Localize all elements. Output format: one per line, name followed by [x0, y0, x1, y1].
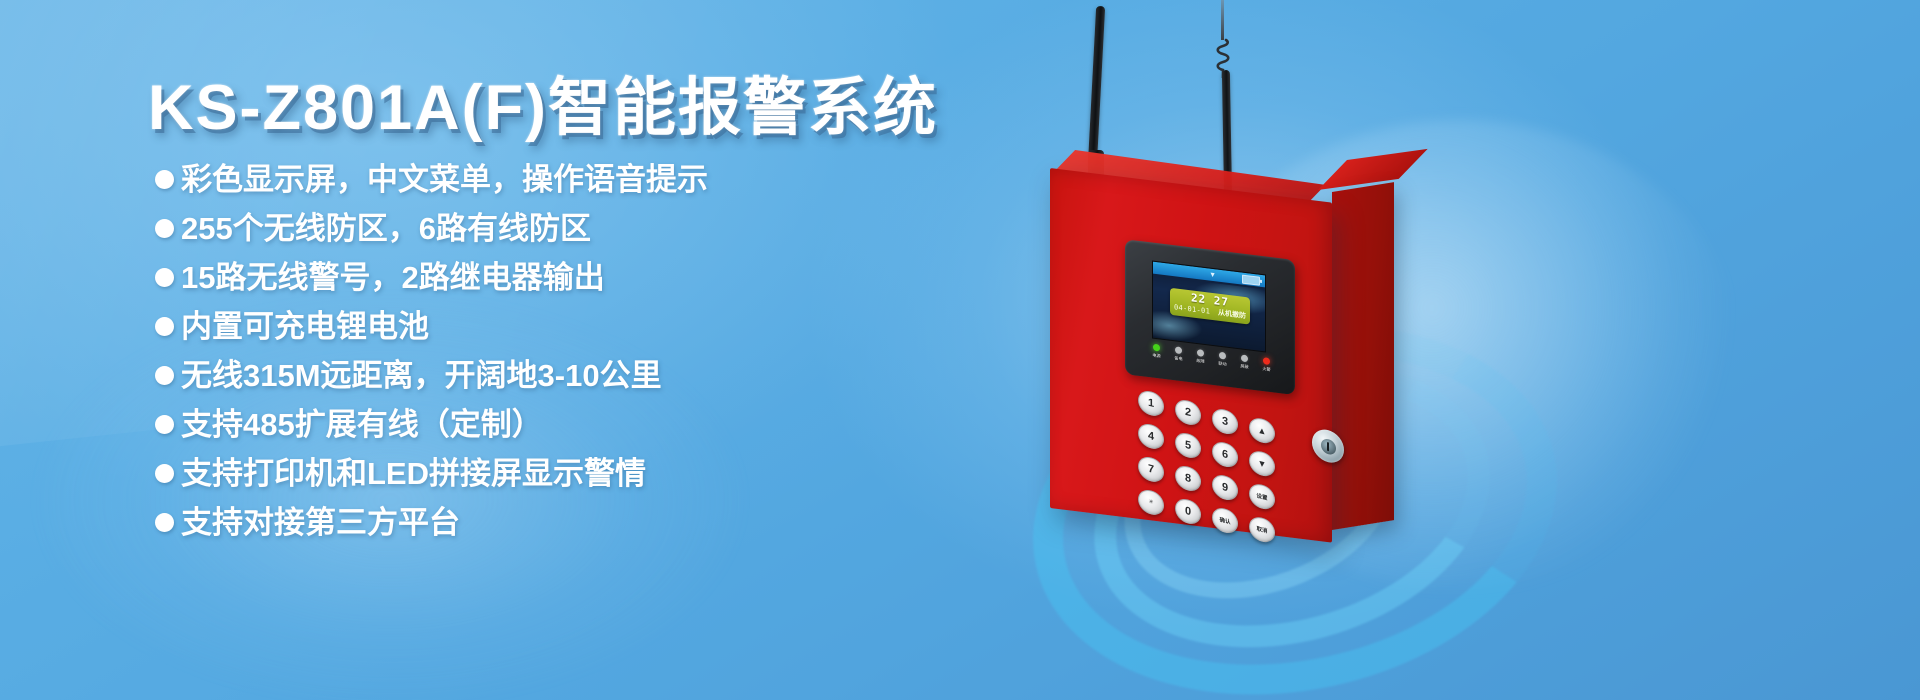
feature-text: 15路无线警号，2路继电器输出 — [181, 262, 605, 293]
key-9[interactable]: 9 — [1212, 472, 1238, 502]
led-indicator: 联动 — [1213, 351, 1231, 368]
key-setup[interactable]: 设置 — [1249, 481, 1275, 511]
antenna-left-icon — [1088, 6, 1105, 166]
led-indicator: 备电 — [1169, 346, 1187, 363]
feature-text: 彩色显示屏，中文菜单，操作语音提示 — [181, 164, 708, 195]
key-8[interactable]: 8 — [1175, 463, 1201, 493]
led-label: 屏蔽 — [1240, 364, 1248, 369]
led-fire-alarm-icon — [1263, 357, 1270, 365]
led-backup-icon — [1175, 346, 1182, 354]
led-label: 故障 — [1196, 359, 1204, 364]
key-star[interactable]: ✳ — [1138, 487, 1164, 517]
key-up-arrow[interactable]: ▲ — [1249, 415, 1275, 445]
cabinet-top-side-face — [1318, 149, 1428, 190]
led-label: 备电 — [1174, 356, 1182, 361]
list-item: 彩色显示屏，中文菜单，操作语音提示 — [155, 155, 1055, 203]
bullet-dot-icon — [155, 513, 174, 532]
list-item: 支持打印机和LED拼接屏显示警情 — [155, 449, 1055, 497]
feature-text: 无线315M远距离，开阔地3-10公里 — [181, 360, 662, 391]
led-label: 电源 — [1152, 354, 1160, 359]
battery-icon — [1242, 274, 1260, 285]
led-label: 火警 — [1262, 367, 1270, 372]
feature-text: 内置可充电锂电池 — [181, 311, 429, 342]
list-item: 内置可充电锂电池 — [155, 302, 1055, 350]
page-title: KS-Z801A(F)智能报警系统 — [148, 57, 938, 148]
key-3[interactable]: 3 — [1212, 406, 1238, 436]
list-item: 支持对接第三方平台 — [155, 498, 1055, 546]
led-fault-icon — [1197, 349, 1204, 357]
key-0[interactable]: 0 — [1175, 496, 1201, 526]
led-indicator: 故障 — [1191, 348, 1209, 365]
led-linkage-icon — [1219, 352, 1226, 360]
bullet-dot-icon — [155, 317, 174, 336]
lcd-mode: 从机撤防 — [1218, 308, 1246, 321]
feature-text: 支持对接第三方平台 — [181, 507, 460, 538]
led-indicator: 电源 — [1147, 343, 1165, 360]
cabinet-front-face: ▼ 22 27 04-01-01 从机撤防 电源 — [1050, 168, 1332, 543]
lock-core — [1321, 437, 1336, 456]
key-7[interactable]: 7 — [1138, 454, 1164, 484]
led-power-icon — [1153, 344, 1160, 352]
list-item: 15路无线警号，2路继电器输出 — [155, 253, 1055, 301]
list-item: 无线315M远距离，开阔地3-10公里 — [155, 351, 1055, 399]
key-2[interactable]: 2 — [1175, 397, 1201, 427]
feature-text: 255个无线防区，6路有线防区 — [181, 213, 591, 244]
list-item: 255个无线防区，6路有线防区 — [155, 204, 1055, 252]
bullet-dot-icon — [155, 170, 174, 189]
key-4[interactable]: 4 — [1138, 421, 1164, 451]
feature-list: 彩色显示屏，中文菜单，操作语音提示 255个无线防区，6路有线防区 15路无线警… — [155, 155, 1055, 547]
signal-icon: ▼ — [1209, 271, 1216, 279]
led-label: 联动 — [1218, 362, 1226, 367]
bullet-dot-icon — [155, 268, 174, 287]
led-shield-icon — [1241, 354, 1248, 362]
lcd-screen: ▼ 22 27 04-01-01 从机撤防 — [1152, 261, 1266, 353]
bullet-dot-icon — [155, 464, 174, 483]
control-faceplate: ▼ 22 27 04-01-01 从机撤防 电源 — [1125, 239, 1295, 395]
bullet-dot-icon — [155, 366, 174, 385]
antenna-right-whip — [1221, 0, 1224, 40]
key-cancel[interactable]: 取消 — [1249, 514, 1275, 544]
lcd-date: 04-01-01 — [1174, 303, 1210, 315]
feature-text: 支持485扩展有线（定制） — [181, 409, 543, 440]
lock-keyhole — [1327, 441, 1329, 450]
bullet-dot-icon — [155, 415, 174, 434]
banner-stage: KS-Z801A(F)智能报警系统 彩色显示屏，中文菜单，操作语音提示 255个… — [0, 0, 1920, 700]
key-6[interactable]: 6 — [1212, 439, 1238, 469]
feature-text: 支持打印机和LED拼接屏显示警情 — [181, 458, 646, 489]
cabinet-side-face — [1332, 182, 1394, 530]
key-1[interactable]: 1 — [1138, 388, 1164, 418]
key-down-arrow[interactable]: ▼ — [1249, 448, 1275, 478]
key-5[interactable]: 5 — [1175, 430, 1201, 460]
list-item: 支持485扩展有线（定制） — [155, 400, 1055, 448]
alarm-panel-device: ▼ 22 27 04-01-01 从机撤防 电源 — [940, 0, 1500, 700]
led-indicator: 屏蔽 — [1235, 354, 1253, 371]
bullet-dot-icon — [155, 219, 174, 238]
led-indicator: 火警 — [1257, 356, 1275, 373]
